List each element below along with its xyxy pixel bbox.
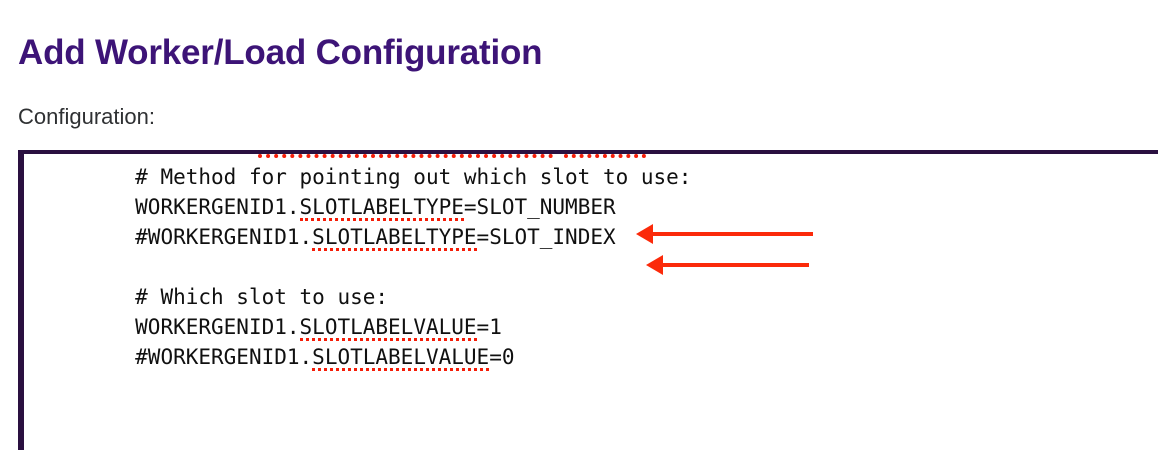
configuration-label: Configuration:: [18, 103, 155, 132]
code-line: WORKERGENID1.SLOTLABELTYPE=SLOT_NUMBER: [24, 162, 1158, 192]
page-root: Add Worker/Load Configuration Configurat…: [0, 0, 1158, 428]
code-line: WORKERGENID1.SLOTLABELVALUE=1: [24, 282, 1158, 312]
code-scroll-area[interactable]: # Method for pointing out which slot to …: [24, 150, 1158, 342]
code-line: # Method for pointing out which slot to …: [24, 150, 1158, 162]
code-line: # Which slot to use:: [24, 252, 1158, 282]
spellcheck-word: SLOTLABELVALUE: [312, 342, 489, 372]
code-text-suffix: =0: [489, 345, 514, 369]
configuration-code-block[interactable]: # Method for pointing out which slot to …: [18, 150, 1158, 450]
code-text-prefix: #WORKERGENID1.: [135, 345, 312, 369]
code-line-blank: [24, 222, 1158, 252]
code-line: #WORKERGENID1.SLOTLABELVALUE=0: [24, 312, 1158, 342]
code-line: #WORKERGENID1.SLOTLABELTYPE=SLOT_INDEX: [24, 192, 1158, 222]
page-title: Add Worker/Load Configuration: [18, 31, 542, 75]
